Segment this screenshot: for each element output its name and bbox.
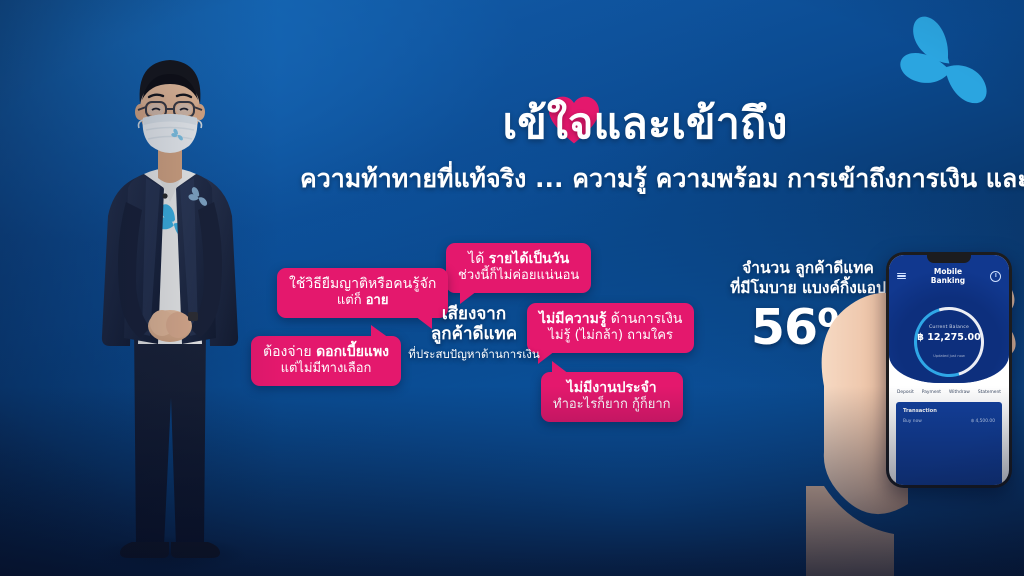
app-tab-statement[interactable]: Statement	[978, 390, 1001, 395]
quote-bubble-high-interest: ต้องจ่าย ดอกเบี้ยแพง แต่ไม่มีทางเลือก	[251, 336, 401, 386]
bubble-line-2: ช่วงนี้ก็ไม่ค่อยแน่นอน	[458, 268, 579, 285]
quote-bubble-no-permanent-job: ไม่มีงานประจำ ทำอะไรก็ยาก กู้ก็ยาก	[541, 372, 683, 422]
bubble-line-2: ไม่รู้ (ไม่กล้า) ถามใคร	[539, 328, 682, 345]
transaction-card-title: Transaction	[903, 408, 995, 414]
phone-screen: Mobile Banking Current Balance ฿ 12,275.…	[889, 255, 1009, 485]
headline-subtitle: ความท้าทายที่แท้จริง ... ความรู้ ความพร้…	[300, 163, 990, 194]
app-tab-deposit[interactable]: Deposit	[897, 390, 914, 395]
bubble-tail	[552, 361, 569, 374]
banking-app-header: Mobile Banking Current Balance ฿ 12,275.…	[889, 255, 1009, 383]
balance-readout: Current Balance ฿ 12,275.00 Updated just…	[889, 325, 1009, 358]
balance-updated-text: Updated just now	[889, 354, 1009, 358]
bubble-line-1: ไม่มีงานประจำ	[553, 379, 671, 397]
app-title-line-2: Banking	[931, 276, 965, 285]
center-caption-line-3: ที่ประสบปัญหาด้านการเงิน	[398, 346, 550, 364]
app-tab-withdraw[interactable]: Withdraw	[949, 390, 970, 395]
center-caption-line-2: ลูกค้าดีแทค	[398, 325, 550, 345]
bubble-line-1: ได้ รายได้เป็นวัน	[458, 250, 579, 268]
headline-primary: เข้ใจและเข้าถึง	[502, 102, 787, 147]
app-title-line-1: Mobile	[934, 267, 962, 276]
transaction-row: Buy now ฿ 4,500.00	[903, 419, 995, 424]
hamburger-menu-icon[interactable]	[897, 273, 906, 280]
app-tab-bar: Deposit Payment Withdraw Statement	[889, 383, 1009, 400]
app-title: Mobile Banking	[906, 267, 990, 285]
bubble-line-2: ทำอะไรก็ยาก กู้ก็ยาก	[553, 397, 671, 414]
transaction-amount: ฿ 4,500.00	[971, 419, 995, 424]
smartphone-device: Mobile Banking Current Balance ฿ 12,275.…	[886, 252, 1012, 488]
bubble-line-1: ต้องจ่าย ดอกเบี้ยแพง	[263, 343, 389, 361]
phone-notch	[927, 255, 971, 263]
headline-primary-text: เข้ใจและเข้าถึง	[502, 99, 787, 149]
quote-bubble-no-financial-knowledge: ไม่มีความรู้ ด้านการเงิน ไม่รู้ (ไม่กล้า…	[527, 303, 694, 353]
slide-canvas: เข้ใจและเข้าถึง ความท้าทายที่แท้จริง ...…	[0, 0, 1024, 576]
power-icon[interactable]	[990, 271, 1001, 282]
balance-label: Current Balance	[889, 325, 1009, 330]
center-caption-line-1: เสียงจาก	[398, 305, 550, 325]
bubble-tail	[371, 325, 389, 338]
bubble-line-2: แต่ไม่มีทางเลือก	[263, 361, 389, 378]
app-top-bar: Mobile Banking	[889, 267, 1009, 285]
app-tab-payment[interactable]: Payment	[922, 390, 941, 395]
quote-bubble-daily-income: ได้ รายได้เป็นวัน ช่วงนี้ก็ไม่ค่อยแน่นอน	[446, 243, 591, 293]
balance-value: ฿ 12,275.00	[889, 332, 1009, 343]
hand-holding-phone: Mobile Banking Current Balance ฿ 12,275.…	[806, 236, 1024, 576]
bubble-line-1: ไม่มีความรู้ ด้านการเงิน	[539, 310, 682, 328]
headline-block: เข้ใจและเข้าถึง ความท้าทายที่แท้จริง ...…	[300, 102, 990, 194]
transaction-card: Transaction Buy now ฿ 4,500.00	[896, 402, 1002, 485]
center-caption: เสียงจาก ลูกค้าดีแทค ที่ประสบปัญหาด้านกา…	[398, 305, 550, 364]
transaction-label: Buy now	[903, 419, 922, 424]
bubble-line-1: ใช้วิธียืมญาติหรือคนรู้จัก	[289, 275, 436, 293]
bubble-tail	[460, 291, 477, 304]
dtac-telenor-propeller-logo	[895, 14, 991, 106]
presenter-photo	[72, 26, 268, 570]
